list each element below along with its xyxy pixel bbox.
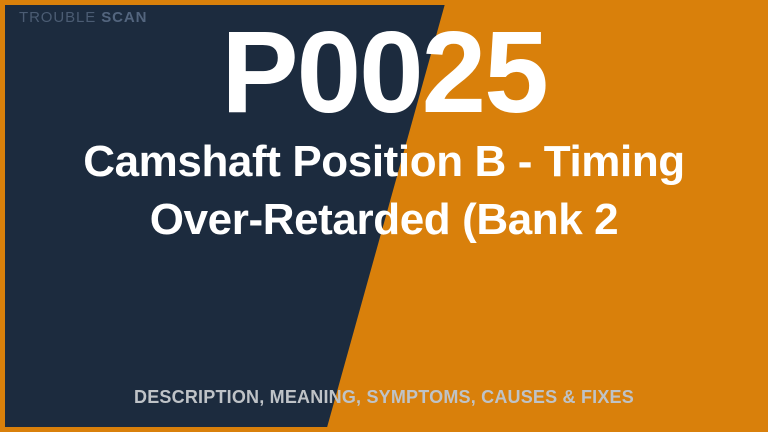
banner-caption: DESCRIPTION, MEANING, SYMPTOMS, CAUSES &… — [0, 388, 768, 406]
code-description: Camshaft Position B - Timing Over-Retard… — [0, 133, 768, 249]
page-title: P0025 — [0, 14, 768, 130]
trouble-code-banner: TROUBLE SCAN P0025 Camshaft Position B -… — [0, 0, 768, 432]
code-description-line-2: Over-Retarded (Bank 2 — [0, 191, 768, 249]
banner-content: TROUBLE SCAN P0025 Camshaft Position B -… — [0, 0, 768, 432]
code-description-line-1: Camshaft Position B - Timing — [0, 133, 768, 191]
